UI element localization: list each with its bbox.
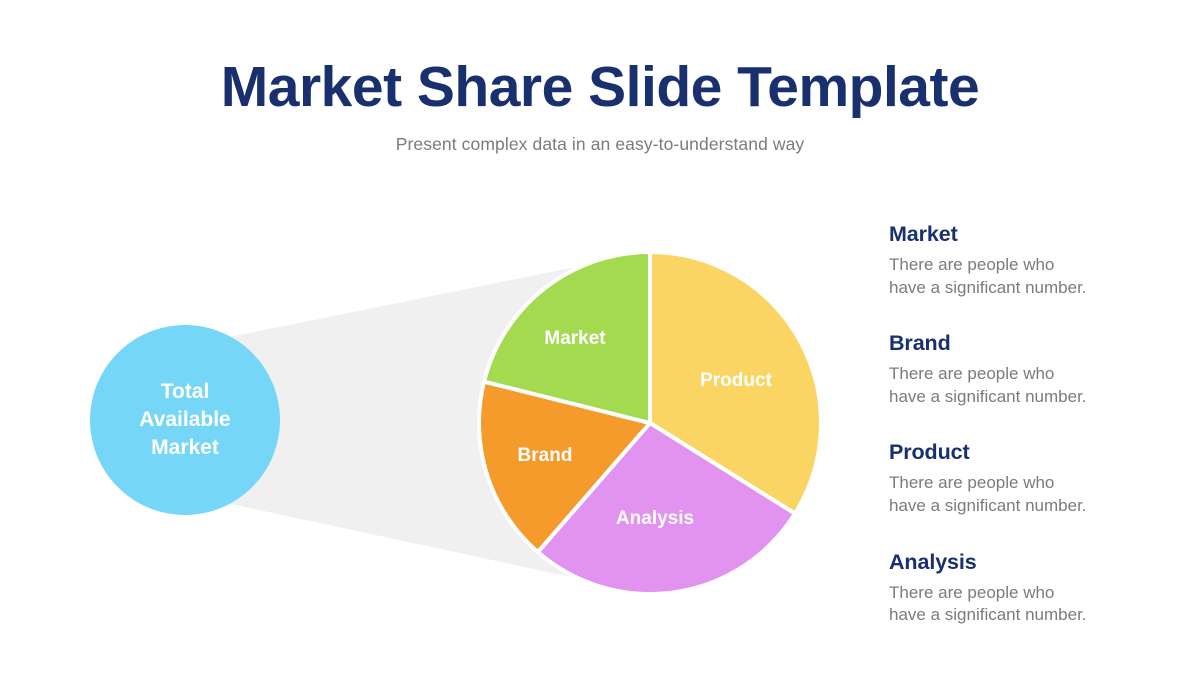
legend-body-line-2: have a significant number.: [889, 278, 1087, 297]
legend-body: There are people who have a significant …: [889, 582, 1125, 627]
legend-body-line-1: There are people who: [889, 473, 1054, 492]
legend-body-line-1: There are people who: [889, 255, 1054, 274]
legend-body-line-2: have a significant number.: [889, 605, 1087, 624]
legend-body: There are people who have a significant …: [889, 472, 1125, 517]
legend-heading: Product: [889, 440, 1149, 465]
tam-label-line-2: Available: [139, 408, 230, 431]
legend-body-line-2: have a significant number.: [889, 496, 1087, 515]
legend-heading: Brand: [889, 331, 1149, 356]
pie-slice-label-market: Market: [544, 328, 606, 349]
pie-slice-label-analysis: Analysis: [616, 508, 694, 529]
legend-heading: Market: [889, 222, 1149, 247]
pie-chart-graphic: Total Available Market ProductAnalysisBr…: [0, 0, 870, 675]
tam-label-line-3: Market: [151, 436, 219, 459]
pie-slice-label-product: Product: [700, 370, 772, 391]
pie-slice-label-brand: Brand: [518, 445, 573, 466]
legend-heading: Analysis: [889, 550, 1149, 575]
legend-body-line-1: There are people who: [889, 364, 1054, 383]
legend-body: There are people who have a significant …: [889, 363, 1125, 408]
legend-list: Market There are people who have a signi…: [889, 222, 1149, 627]
market-share-diagram: Total Available Market ProductAnalysisBr…: [0, 0, 870, 675]
legend-item-market[interactable]: Market There are people who have a signi…: [889, 222, 1149, 299]
legend-body: There are people who have a significant …: [889, 254, 1125, 299]
slide-canvas: Market Share Slide Template Present comp…: [0, 0, 1200, 675]
legend-item-brand[interactable]: Brand There are people who have a signif…: [889, 331, 1149, 408]
pie-slices: [479, 252, 821, 594]
legend-body-line-2: have a significant number.: [889, 387, 1087, 406]
legend-item-analysis[interactable]: Analysis There are people who have a sig…: [889, 550, 1149, 627]
legend-item-product[interactable]: Product There are people who have a sign…: [889, 440, 1149, 517]
legend-body-line-1: There are people who: [889, 583, 1054, 602]
tam-label-line-1: Total: [161, 380, 210, 403]
